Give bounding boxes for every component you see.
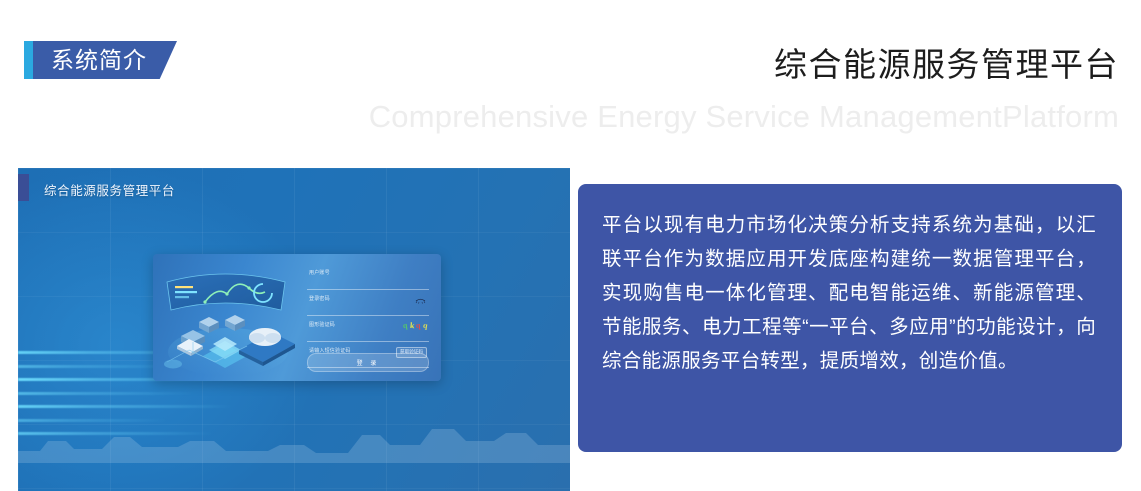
page-subtitle-watermark: Comprehensive Energy Service ManagementP… <box>369 99 1119 135</box>
field-underline <box>307 289 429 290</box>
login-field-password-label: 登录密码 <box>309 295 330 302</box>
login-form: 用户账号 登录密码 图形验证码 qkqq 请输入短信验证码 <box>303 254 441 381</box>
section-tag-label: 系统简介 <box>51 49 147 72</box>
screenshot-panel-title: 综合能源服务管理平台 <box>44 180 175 199</box>
description-panel: 平台以现有电力市场化决策分析支持系统为基础，以汇联平台作为数据应用开发底座构建统… <box>578 184 1122 452</box>
login-field-account[interactable]: 用户账号 <box>307 267 429 290</box>
section-tag: 系统简介 <box>24 41 177 79</box>
field-underline <box>307 341 429 342</box>
isometric-illustration <box>153 254 303 381</box>
skyline-decoration <box>18 411 570 463</box>
eye-toggle-icon[interactable] <box>415 297 426 304</box>
corner-marker <box>18 174 29 201</box>
login-card: 用户账号 登录密码 图形验证码 qkqq 请输入短信验证码 <box>153 254 441 381</box>
description-text: 平台以现有电力市场化决策分析支持系统为基础，以汇联平台作为数据应用开发底座构建统… <box>602 208 1096 378</box>
section-tag-plate: 系统简介 <box>33 41 177 79</box>
section-tag-accent-bar <box>24 41 33 79</box>
captcha-image[interactable]: qkqq <box>403 320 427 332</box>
login-field-password[interactable]: 登录密码 <box>307 293 429 316</box>
field-underline <box>307 315 429 316</box>
page-title: 综合能源服务管理平台 <box>774 38 1119 86</box>
login-submit-button[interactable]: 登 录 <box>307 353 429 372</box>
login-field-captcha-label: 图形验证码 <box>309 321 335 328</box>
login-field-account-label: 用户账号 <box>309 269 330 276</box>
product-screenshot-panel: 综合能源服务管理平台 <box>18 168 570 491</box>
login-field-captcha[interactable]: 图形验证码 qkqq <box>307 319 429 342</box>
